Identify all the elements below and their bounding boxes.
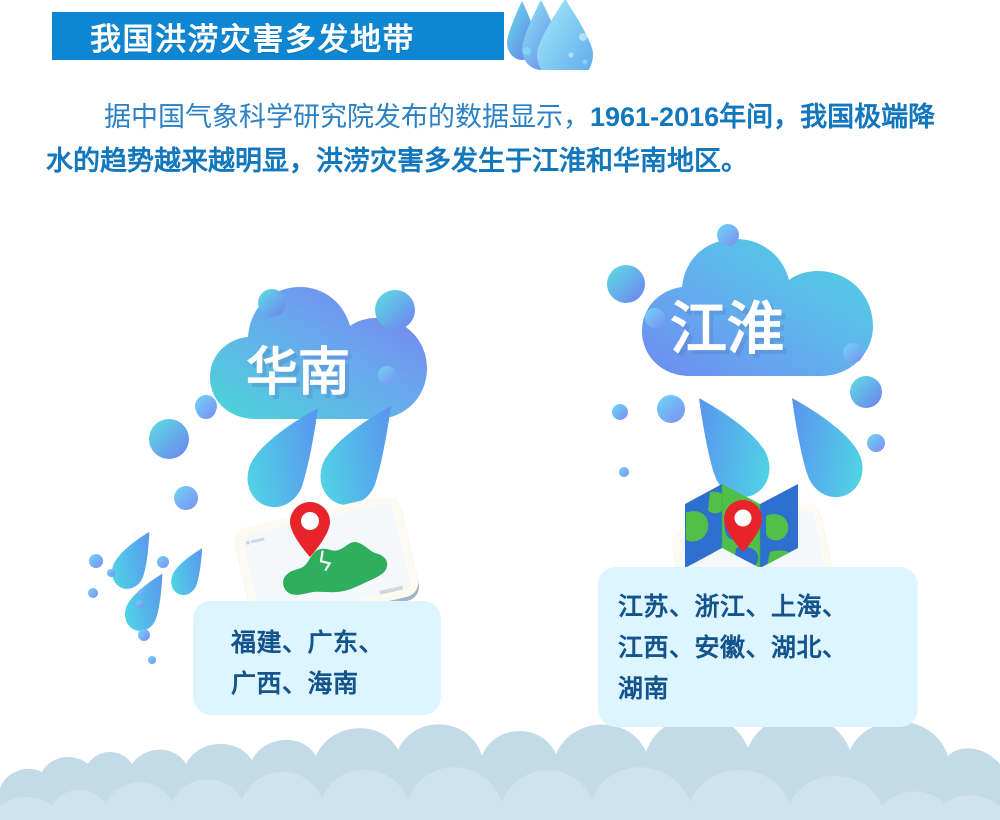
card-jianghuai-line-3: 湖南 (618, 669, 669, 710)
water-drops-icon (505, 0, 615, 70)
infographic-canvas: 我国洪涝灾害多发地带 据中国气象科学研究院发布的数据显示，1961-2016年间… (0, 0, 1000, 820)
bubble-icon (149, 419, 189, 459)
cloud-label-jianghuai: 江淮 (670, 283, 784, 365)
bubble-icon (619, 467, 629, 477)
bubble-icon (850, 376, 882, 408)
bubble-icon (107, 569, 115, 577)
bubble-icon (88, 588, 98, 598)
cloud-label-huanan: 华南 (246, 330, 350, 405)
card-jianghuai-provinces: 江苏、浙江、上海、 江西、安徽、湖北、 湖南 (598, 567, 918, 727)
card-huanan-line-1: 福建、广东、 (231, 623, 384, 664)
bubble-icon (258, 289, 286, 317)
bubble-icon (174, 486, 198, 510)
bubble-icon (136, 600, 144, 608)
bubble-icon (843, 343, 863, 363)
bubble-icon (645, 308, 665, 328)
card-huanan-line-2: 广西、海南 (231, 664, 359, 705)
card-huanan-provinces: 福建、广东、 广西、海南 (193, 601, 441, 715)
bubble-icon (375, 290, 415, 330)
raindrop-icon (167, 542, 207, 599)
bubble-icon (138, 589, 144, 595)
card-jianghuai-line-1: 江苏、浙江、上海、 (618, 587, 848, 628)
title-banner: 我国洪涝灾害多发地带 (52, 12, 504, 60)
page-title: 我国洪涝灾害多发地带 (90, 14, 415, 59)
bubble-icon (717, 224, 739, 246)
bubble-icon (607, 265, 645, 303)
card-jianghuai-line-2: 江西、安徽、湖北、 (618, 628, 848, 669)
bubble-icon (378, 366, 396, 384)
raindrop-icon (313, 392, 400, 513)
intro-lead: 据中国气象科学研究院发布的数据显示， (104, 102, 590, 132)
bubble-icon (157, 556, 169, 568)
intro-highlight: 1961-2016年间， (590, 102, 800, 132)
bubble-icon (612, 404, 628, 420)
bubble-icon (867, 434, 885, 452)
raindrop-icon (240, 394, 327, 515)
bubble-icon (138, 629, 150, 641)
bubble-icon (657, 395, 685, 423)
bubble-icon (195, 395, 217, 417)
bubble-icon (89, 554, 103, 568)
intro-paragraph: 据中国气象科学研究院发布的数据显示，1961-2016年间，我国极端降水的趋势越… (46, 95, 946, 183)
